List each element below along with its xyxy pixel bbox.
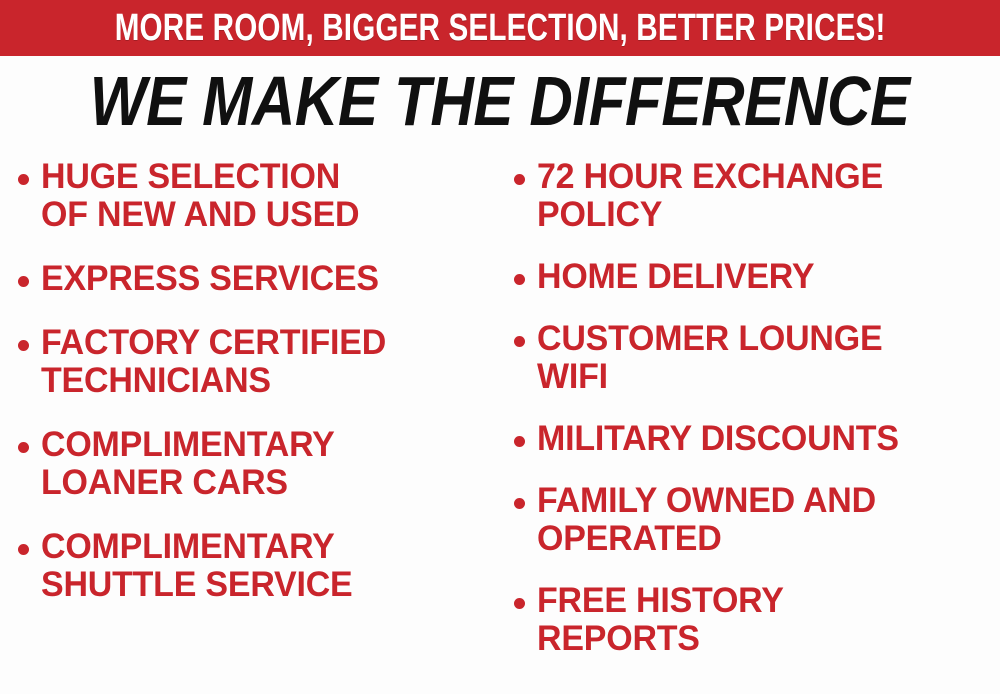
bullet-dot-icon (514, 336, 525, 347)
list-item: FAMILY OWNED AND OPERATED (514, 482, 1000, 558)
list-item: 72 HOUR EXCHANGE POLICY (514, 158, 1000, 234)
list-item-label: 72 HOUR EXCHANGE POLICY (537, 158, 883, 234)
benefits-columns: HUGE SELECTION OF NEW AND USED EXPRESS S… (0, 158, 1000, 694)
list-item-label: HUGE SELECTION OF NEW AND USED (41, 158, 359, 234)
benefits-column-right: 72 HOUR EXCHANGE POLICY HOME DELIVERY CU… (500, 158, 1000, 682)
benefits-column-left: HUGE SELECTION OF NEW AND USED EXPRESS S… (0, 158, 500, 630)
bullet-dot-icon (514, 436, 525, 447)
bullet-dot-icon (514, 174, 525, 185)
list-item-label: EXPRESS SERVICES (41, 260, 379, 298)
list-item-label: FAMILY OWNED AND OPERATED (537, 482, 876, 558)
page-title: WE MAKE THE DIFFERENCE (90, 66, 910, 136)
list-item-label: MILITARY DISCOUNTS (537, 420, 899, 458)
list-item: HUGE SELECTION OF NEW AND USED (18, 158, 500, 234)
headline-container: WE MAKE THE DIFFERENCE (0, 62, 1000, 140)
list-item: EXPRESS SERVICES (18, 260, 500, 298)
top-promo-strip: MORE ROOM, BIGGER SELECTION, BETTER PRIC… (0, 0, 1000, 56)
list-item: FACTORY CERTIFIED TECHNICIANS (18, 324, 500, 400)
list-item-label: COMPLIMENTARY SHUTTLE SERVICE (41, 528, 353, 604)
bullet-dot-icon (514, 498, 525, 509)
top-promo-text: MORE ROOM, BIGGER SELECTION, BETTER PRIC… (115, 9, 886, 47)
list-item-label: HOME DELIVERY (537, 258, 814, 296)
list-item: COMPLIMENTARY LOANER CARS (18, 426, 500, 502)
list-item: HOME DELIVERY (514, 258, 1000, 296)
list-item: COMPLIMENTARY SHUTTLE SERVICE (18, 528, 500, 604)
list-item: CUSTOMER LOUNGE WIFI (514, 320, 1000, 396)
list-item: MILITARY DISCOUNTS (514, 420, 1000, 458)
list-item-label: FREE HISTORY REPORTS (537, 582, 784, 658)
bullet-dot-icon (514, 274, 525, 285)
list-item-label: FACTORY CERTIFIED TECHNICIANS (41, 324, 386, 400)
bullet-dot-icon (18, 340, 29, 351)
list-item-label: COMPLIMENTARY LOANER CARS (41, 426, 335, 502)
bullet-dot-icon (18, 544, 29, 555)
promotional-banner: MORE ROOM, BIGGER SELECTION, BETTER PRIC… (0, 0, 1000, 694)
list-item-label: CUSTOMER LOUNGE WIFI (537, 320, 882, 396)
bullet-dot-icon (18, 442, 29, 453)
bullet-dot-icon (18, 276, 29, 287)
bullet-dot-icon (514, 598, 525, 609)
bullet-dot-icon (18, 174, 29, 185)
list-item: FREE HISTORY REPORTS (514, 582, 1000, 658)
